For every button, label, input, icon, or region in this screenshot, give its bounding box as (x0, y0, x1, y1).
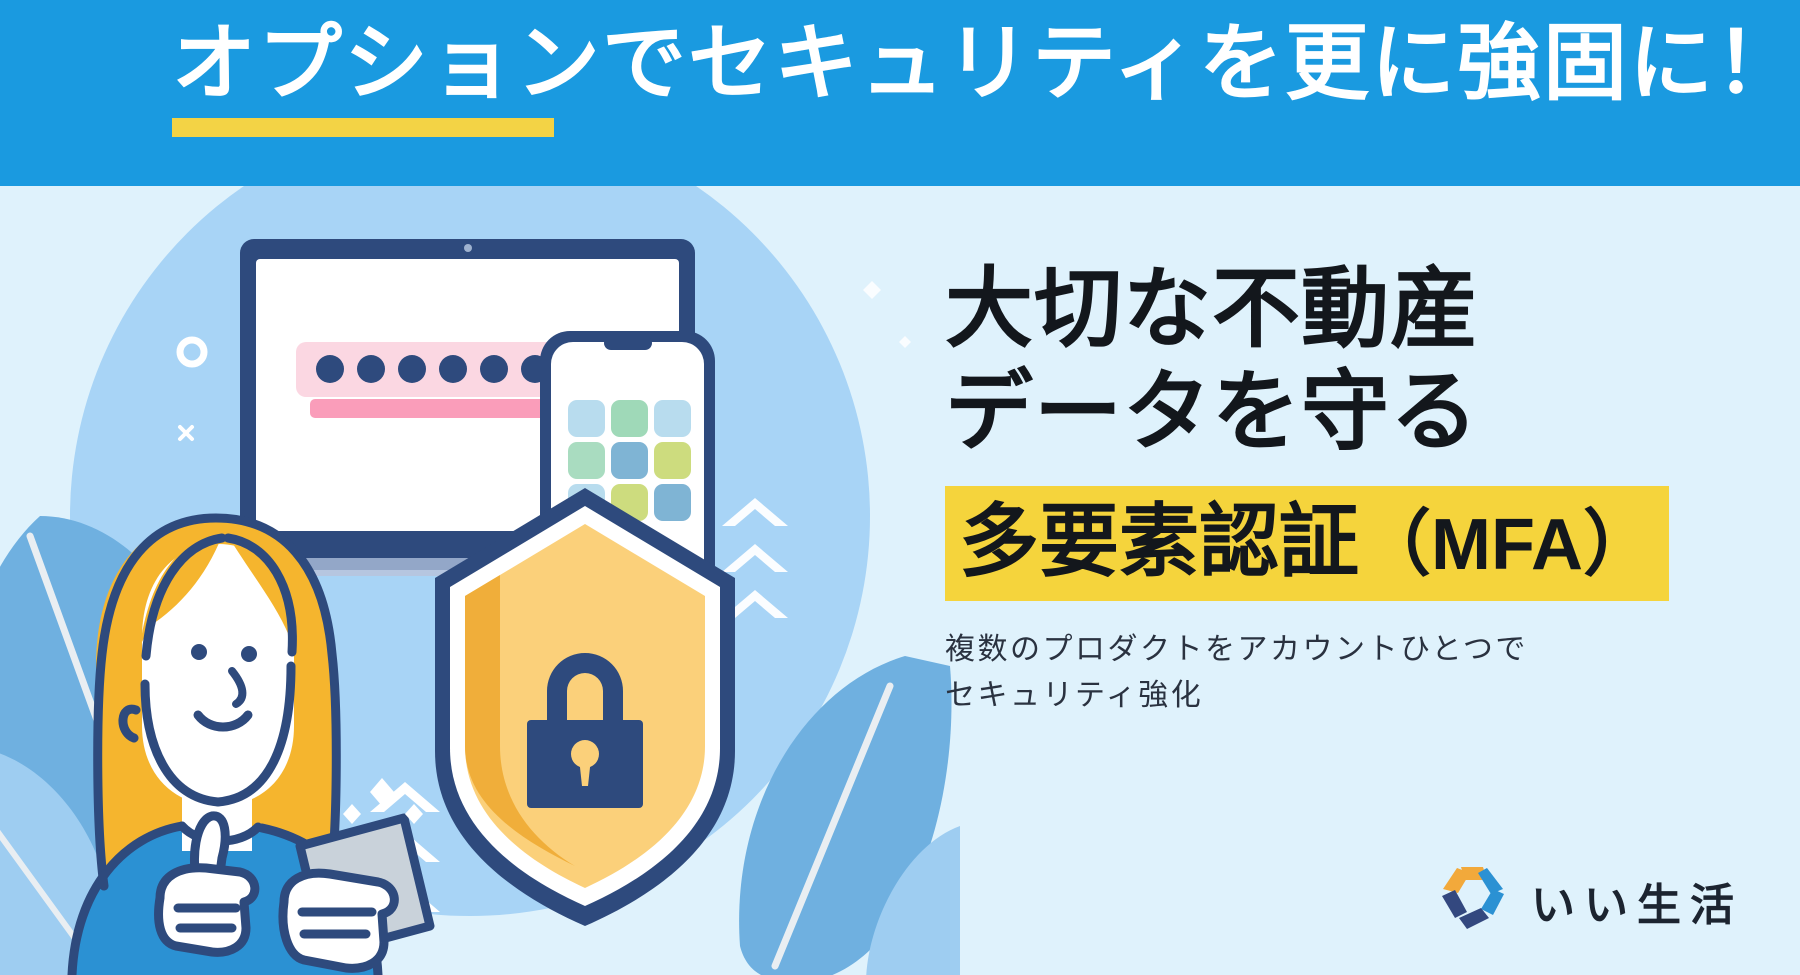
highlight-badge: 多要素認証（MFA） (945, 486, 1669, 601)
logo-hexagon-mark-icon (1437, 862, 1509, 939)
highlight-main-text: 多要素認証 (959, 497, 1359, 586)
subcopy-line-1: 複数のプロダクトをアカウントひとつで (945, 627, 1775, 674)
person-right-hand (283, 873, 394, 968)
subcopy-block: 複数のプロダクトをアカウントひとつで セキュリティ強化 (945, 627, 1775, 720)
headline-line-2: データを守る (945, 361, 1775, 464)
header-underline-accent (172, 118, 554, 137)
subcopy-line-2: セキュリティ強化 (945, 673, 1775, 720)
promo-banner: オプションでセキュリティを更に強固に！ (0, 0, 1800, 975)
highlight-suffix-text: （MFA） (1359, 505, 1655, 585)
hero-illustration (0, 186, 960, 975)
header-band: オプションでセキュリティを更に強固に！ (0, 0, 1800, 186)
brand-logo: いい生活 (1437, 862, 1743, 939)
main-copy-block: 大切な不動産 データを守る 多要素認証（MFA） 複数のプロダクトをアカウントひ… (945, 258, 1775, 720)
logo-wordmark: いい生活 (1531, 869, 1743, 933)
header-title: オプションでセキュリティを更に強固に！ (172, 18, 1800, 109)
headline-line-1: 大切な不動産 (945, 258, 1775, 361)
